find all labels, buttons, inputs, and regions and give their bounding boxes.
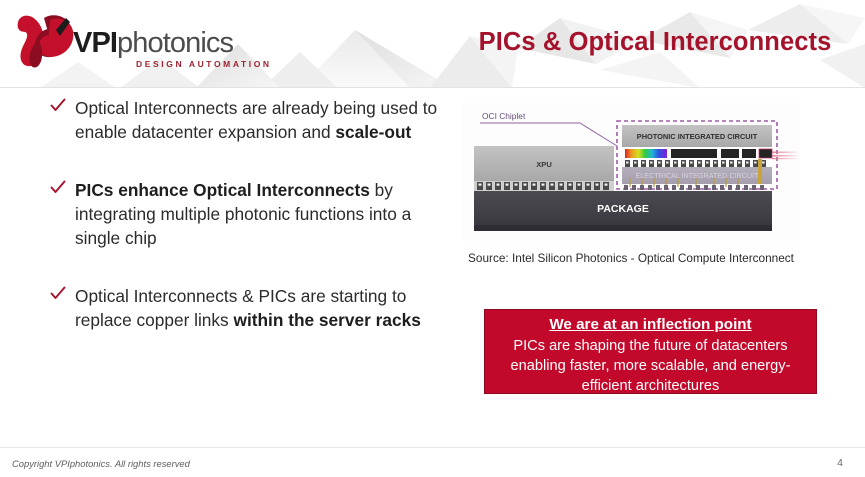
slide: VPIphotonics DESIGN AUTOMATION PICs & Op… <box>0 0 865 477</box>
callout-line-3: efficient architectures <box>493 376 808 396</box>
figure-source-caption: Source: Intel Silicon Photonics - Optica… <box>462 251 800 265</box>
callout-body: PICs are shaping the future of datacente… <box>485 336 816 396</box>
bullet-list: Optical Interconnects are already being … <box>50 96 460 332</box>
logo-name-vpi: VPI <box>73 27 117 59</box>
inflection-point-callout: We are at an inflection point PICs are s… <box>484 309 817 394</box>
photonic-ic-label: PHOTONIC INTEGRATED CIRCUIT <box>637 132 758 141</box>
header-divider <box>0 87 865 88</box>
vpiphotonics-logo: VPIphotonics DESIGN AUTOMATION <box>14 12 266 74</box>
page-number: 4 <box>837 457 843 469</box>
logo-tagline: DESIGN AUTOMATION <box>136 59 272 69</box>
callout-line-1: PICs are shaping the future of datacente… <box>493 336 808 356</box>
bullet-item-1: Optical Interconnects are already being … <box>50 96 460 144</box>
oci-chiplet-label: OCI Chiplet <box>482 111 526 121</box>
checkmark-icon <box>50 180 66 196</box>
checkmark-icon <box>50 98 66 114</box>
xpu-label: XPU <box>536 160 552 169</box>
checkmark-icon <box>50 286 66 302</box>
oci-chiplet-diagram-svg: OCI Chiplet XPU <box>462 103 800 241</box>
bullet-text-1-bold: scale-out <box>335 122 411 142</box>
package-label: PACKAGE <box>597 203 649 215</box>
logo-name-photonics: photonics <box>117 27 233 59</box>
bullet-item-2: PICs enhance Optical Interconnects by in… <box>50 178 460 250</box>
photonic-component-strip <box>625 149 772 158</box>
optical-fiber-lines <box>772 152 800 160</box>
bullet-text-3-bold: within the server racks <box>234 310 421 330</box>
page-title: PICs & Optical Interconnects <box>455 28 855 57</box>
footer-copyright: Copyright VPIphotonics. All rights reser… <box>12 458 190 469</box>
callout-heading: We are at an inflection point <box>485 315 816 335</box>
bullet-item-3: Optical Interconnects & PICs are startin… <box>50 284 460 332</box>
footer-divider <box>0 447 865 448</box>
callout-line-2: enabling faster, more scalable, and ener… <box>493 356 808 376</box>
oci-chiplet-diagram: OCI Chiplet XPU <box>462 103 800 241</box>
logo-wordmark: VPIphotonics <box>73 28 233 58</box>
bullet-text-2-bold: PICs enhance Optical Interconnects <box>75 180 370 200</box>
vpi-butterfly-mark-icon <box>14 12 82 70</box>
xpu-solder-bumps <box>474 181 614 191</box>
